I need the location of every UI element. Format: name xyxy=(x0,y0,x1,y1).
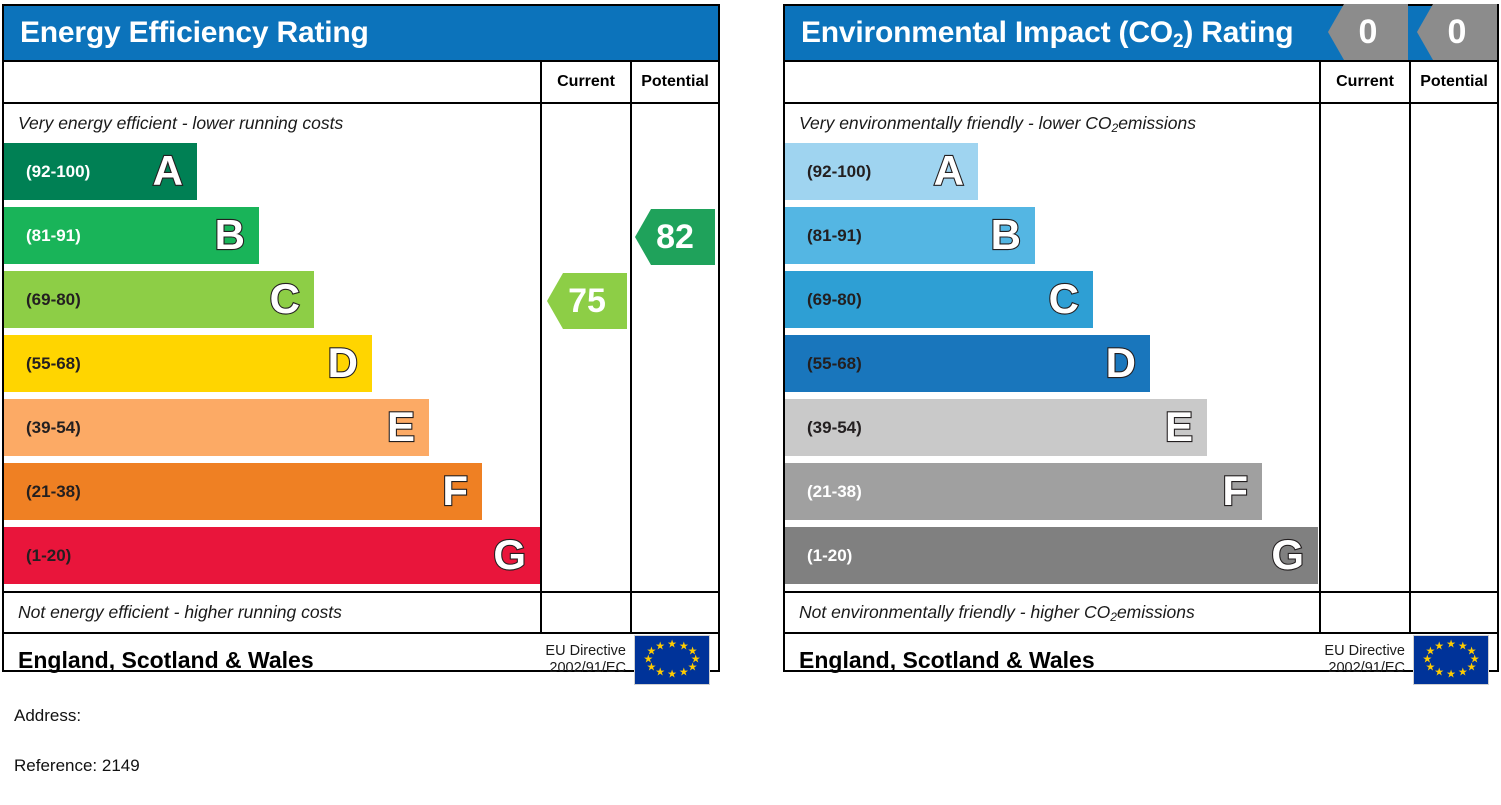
band-row-g: (1-20) G xyxy=(4,527,540,584)
energy-eu-directive: EU Directive 2002/91/EC ★★★★★★★★★★★★ xyxy=(545,635,718,685)
energy-potential-rating-value: 82 xyxy=(656,218,694,257)
energy-top-pot-cell xyxy=(630,104,718,143)
eu-star-icon: ★ xyxy=(679,668,689,679)
environmental-top-caption: Very environmentally friendly - lower CO… xyxy=(785,104,1319,143)
band-row-f: (21-38) F xyxy=(4,463,482,520)
environmental-top-caption-prefix: Very environmentally friendly - lower CO xyxy=(799,113,1112,134)
eu-star-icon: ★ xyxy=(1446,670,1456,681)
environmental-eu-directive-line1: EU Directive xyxy=(1324,643,1405,659)
co2-band-row-e: (39-54) E xyxy=(785,399,1207,456)
band-range-f: (21-38) xyxy=(26,482,81,502)
environmental-top-caption-suffix: emissions xyxy=(1118,113,1196,134)
environmental-chart-title: Environmental Impact (CO2) Rating xyxy=(801,16,1293,50)
co2-band-row-a: (92-100) A xyxy=(785,143,978,200)
energy-current-rating-value: 75 xyxy=(568,282,606,321)
co2-band-range-g: (1-20) xyxy=(807,546,852,566)
energy-potential-rating-marker: 82 xyxy=(635,209,715,265)
energy-eu-directive-line2: 2002/91/EC xyxy=(549,660,626,676)
band-row-e: (39-54) E xyxy=(4,399,429,456)
co2-band-range-a: (92-100) xyxy=(807,162,871,182)
co2-band-letter-e: E xyxy=(1165,406,1193,448)
environmental-impact-chart: Environmental Impact (CO2) Rating Curren… xyxy=(783,4,1499,672)
environmental-column-header-row: Current Potential xyxy=(785,60,1497,104)
energy-chart-title: Energy Efficiency Rating xyxy=(20,16,369,50)
environmental-title-suffix: ) Rating xyxy=(1183,16,1293,49)
band-range-e: (39-54) xyxy=(26,418,81,438)
band-letter-a: A xyxy=(153,150,183,192)
co2-band-range-e: (39-54) xyxy=(807,418,862,438)
band-range-d: (55-68) xyxy=(26,354,81,374)
band-range-g: (1-20) xyxy=(26,546,71,566)
co2-band-range-f: (21-38) xyxy=(807,482,862,502)
energy-bottom-caption: Not energy efficient - higher running co… xyxy=(4,593,540,632)
environmental-eu-directive-line2: 2002/91/EC xyxy=(1328,660,1405,676)
environmental-header-spacer xyxy=(785,62,1319,102)
energy-bottom-caption-row: Not energy efficient - higher running co… xyxy=(4,591,718,634)
energy-current-rating-marker: 75 xyxy=(547,273,627,329)
energy-region-label: England, Scotland & Wales xyxy=(18,647,314,674)
eu-star-icon: ★ xyxy=(1434,668,1444,679)
eu-star-icon: ★ xyxy=(1434,641,1444,652)
energy-bot-cur-cell xyxy=(540,593,630,632)
energy-top-caption-row: Very energy efficient - lower running co… xyxy=(4,104,718,143)
band-letter-g: G xyxy=(493,534,526,576)
co2-band-letter-b: B xyxy=(991,214,1021,256)
environmental-bottom-caption-row: Not environmentally friendly - higher CO… xyxy=(785,591,1497,634)
address-label: Address: xyxy=(14,706,81,726)
band-row-d: (55-68) D xyxy=(4,335,372,392)
band-letter-b: B xyxy=(215,214,245,256)
eu-star-icon: ★ xyxy=(1446,639,1456,650)
eu-star-icon: ★ xyxy=(655,668,665,679)
energy-top-cur-cell xyxy=(540,104,630,143)
environmental-bot-cur-cell xyxy=(1319,593,1409,632)
co2-band-row-d: (55-68) D xyxy=(785,335,1150,392)
environmental-potential-rating-value: 0 xyxy=(1448,13,1467,52)
energy-current-column-header: Current xyxy=(540,62,630,102)
band-letter-f: F xyxy=(442,470,468,512)
energy-header-spacer xyxy=(4,62,540,102)
eu-star-icon: ★ xyxy=(667,670,677,681)
energy-current-column: 75 xyxy=(540,143,630,591)
co2-band-letter-a: A xyxy=(934,150,964,192)
eu-star-icon: ★ xyxy=(655,641,665,652)
co2-band-range-b: (81-91) xyxy=(807,226,862,246)
environmental-title-prefix: Environmental Impact (CO xyxy=(801,16,1173,49)
band-letter-c: C xyxy=(270,278,300,320)
co2-band-letter-f: F xyxy=(1222,470,1248,512)
co2-band-range-d: (55-68) xyxy=(807,354,862,374)
environmental-band-list: (92-100) A (81-91) B (69-80) C (55-68) D… xyxy=(785,143,1319,591)
environmental-footer: England, Scotland & Wales EU Directive 2… xyxy=(785,634,1497,686)
environmental-current-column xyxy=(1319,143,1409,591)
energy-potential-column: 82 xyxy=(630,143,718,591)
energy-top-caption: Very energy efficient - lower running co… xyxy=(4,104,540,143)
band-range-c: (69-80) xyxy=(26,290,81,310)
energy-eu-directive-line1: EU Directive xyxy=(545,643,626,659)
co2-band-row-b: (81-91) B xyxy=(785,207,1035,264)
environmental-bottom-caption-prefix: Not environmentally friendly - higher CO xyxy=(799,602,1110,623)
eu-star-icon: ★ xyxy=(688,662,698,673)
co2-band-letter-c: C xyxy=(1049,278,1079,320)
energy-footer: England, Scotland & Wales EU Directive 2… xyxy=(4,634,718,686)
energy-eu-directive-text: EU Directive 2002/91/EC xyxy=(545,643,626,677)
co2-band-row-c: (69-80) C xyxy=(785,271,1093,328)
environmental-top-cur-cell xyxy=(1319,104,1409,143)
environmental-eu-directive: EU Directive 2002/91/EC ★★★★★★★★★★★★ xyxy=(1324,635,1497,685)
eu-flag-icon: ★★★★★★★★★★★★ xyxy=(634,635,710,685)
eu-flag-icon: ★★★★★★★★★★★★ xyxy=(1413,635,1489,685)
environmental-potential-column xyxy=(1409,143,1497,591)
energy-bot-pot-cell xyxy=(630,593,718,632)
co2-band-letter-g: G xyxy=(1271,534,1304,576)
co2-band-row-g: (1-20) G xyxy=(785,527,1318,584)
environmental-title-subscript: 2 xyxy=(1173,31,1183,52)
environmental-bands-area: (92-100) A (81-91) B (69-80) C (55-68) D… xyxy=(785,143,1497,591)
environmental-current-rating-value: 0 xyxy=(1359,13,1378,52)
environmental-current-rating-marker: 0 xyxy=(1328,4,1408,60)
band-row-a: (92-100) A xyxy=(4,143,197,200)
co2-band-letter-d: D xyxy=(1106,342,1136,384)
energy-column-header-row: Current Potential xyxy=(4,60,718,104)
energy-potential-column-header: Potential xyxy=(630,62,718,102)
eu-star-icon: ★ xyxy=(1458,668,1468,679)
environmental-potential-rating-marker: 0 xyxy=(1417,4,1497,60)
band-letter-e: E xyxy=(387,406,415,448)
environmental-top-caption-row: Very environmentally friendly - lower CO… xyxy=(785,104,1497,143)
environmental-top-pot-cell xyxy=(1409,104,1497,143)
environmental-current-column-header: Current xyxy=(1319,62,1409,102)
co2-band-range-c: (69-80) xyxy=(807,290,862,310)
environmental-bottom-caption-sub: 2 xyxy=(1110,610,1117,624)
energy-bands-area: (92-100) A (81-91) B (69-80) C (55-68) D… xyxy=(4,143,718,591)
epc-graphs-page: Energy Efficiency Rating Current Potenti… xyxy=(0,0,1501,805)
co2-band-row-f: (21-38) F xyxy=(785,463,1262,520)
environmental-bot-pot-cell xyxy=(1409,593,1497,632)
band-range-a: (92-100) xyxy=(26,162,90,182)
energy-title-bar: Energy Efficiency Rating xyxy=(4,6,718,60)
environmental-region-label: England, Scotland & Wales xyxy=(799,647,1095,674)
energy-efficiency-chart: Energy Efficiency Rating Current Potenti… xyxy=(2,4,720,672)
environmental-bottom-caption: Not environmentally friendly - higher CO… xyxy=(785,593,1319,632)
band-letter-d: D xyxy=(328,342,358,384)
band-row-b: (81-91) B xyxy=(4,207,259,264)
reference-label: Reference: 2149 xyxy=(14,756,140,776)
environmental-eu-directive-text: EU Directive 2002/91/EC xyxy=(1324,643,1405,677)
environmental-bottom-caption-suffix: emissions xyxy=(1117,602,1195,623)
energy-band-list: (92-100) A (81-91) B (69-80) C (55-68) D… xyxy=(4,143,540,591)
environmental-top-caption-sub: 2 xyxy=(1112,121,1119,135)
eu-star-icon: ★ xyxy=(667,639,677,650)
environmental-potential-column-header: Potential xyxy=(1409,62,1497,102)
eu-star-icon: ★ xyxy=(1467,662,1477,673)
band-row-c: (69-80) C xyxy=(4,271,314,328)
band-range-b: (81-91) xyxy=(26,226,81,246)
